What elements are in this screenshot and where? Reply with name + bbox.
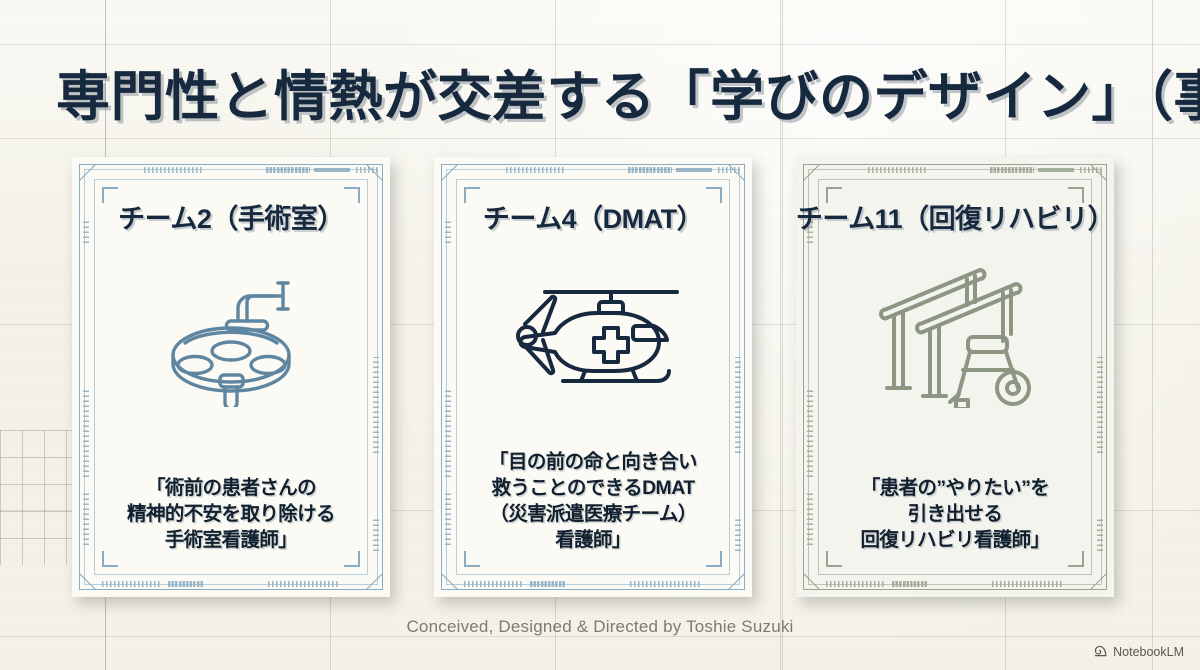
tick-strip-bottom-3 <box>630 581 702 587</box>
notebooklm-watermark: NotebookLM <box>1093 644 1184 659</box>
slide-canvas: 専門性と情熱が交差する「学びのデザイン」（事例2） <box>0 0 1200 670</box>
tick-strip-top-1 <box>868 167 926 173</box>
tick-strip-top-4 <box>1080 167 1102 173</box>
slide-title: 専門性と情熱が交差する「学びのデザイン」（事例2） <box>56 52 1156 131</box>
team-card-dmat[interactable]: チーム4（DMAT） <box>434 157 752 597</box>
tick-strip-right-1 <box>735 357 741 453</box>
card-title: チーム11（回復リハビリ） <box>796 197 1114 236</box>
tick-strip-left-2 <box>83 387 89 477</box>
tick-strip-left-2 <box>445 387 451 477</box>
card-body: チーム11（回復リハビリ） <box>822 191 1088 567</box>
corner-chamfer-top-left <box>79 164 96 181</box>
tick-strip-bottom-3 <box>268 581 340 587</box>
tick-strip-bottom-1 <box>102 581 160 587</box>
corner-chamfer-bottom-left <box>803 573 820 590</box>
tick-strip-bottom-3 <box>992 581 1064 587</box>
corner-chamfer-top-left <box>441 164 458 181</box>
corner-chamfer-bottom-right <box>1090 573 1107 590</box>
card-body: チーム2（手術室） <box>98 191 364 567</box>
tick-strip-bottom-1 <box>826 581 884 587</box>
tick-strip-right-2 <box>373 517 379 551</box>
card-row: チーム2（手術室） <box>72 157 1114 597</box>
tick-strip-top-3 <box>314 168 350 172</box>
card-caption: 「目の前の命と向き合い 救うことのできるDMAT （災害派遣医療チーム） 看護師… <box>489 449 697 554</box>
corner-chamfer-top-left <box>803 164 820 181</box>
notebooklm-spiral-icon <box>1093 644 1108 659</box>
tick-strip-top-4 <box>356 167 378 173</box>
tick-strip-left-1 <box>445 219 451 243</box>
medical-helicopter-icon <box>501 258 686 408</box>
card-body: チーム4（DMAT） <box>460 191 726 567</box>
corner-chamfer-bottom-left <box>79 573 96 590</box>
tick-strip-top-2 <box>266 167 310 173</box>
tick-strip-right-2 <box>1097 517 1103 551</box>
card-title: チーム4（DMAT） <box>483 197 703 236</box>
corner-chamfer-bottom-left <box>441 573 458 590</box>
tick-strip-bottom-2 <box>530 581 566 587</box>
team-card-rehab[interactable]: チーム11（回復リハビリ） <box>796 157 1114 597</box>
tick-strip-bottom-2 <box>168 581 204 587</box>
tick-strip-right-2 <box>735 517 741 551</box>
tick-strip-right-1 <box>1097 357 1103 453</box>
tick-strip-top-3 <box>1038 168 1074 172</box>
card-caption: 「術前の患者さんの 精神的不安を取り除ける 手術室看護師」 <box>127 475 335 553</box>
tick-strip-top-2 <box>628 167 672 173</box>
corner-chamfer-bottom-right <box>728 573 745 590</box>
footer-credit: Conceived, Designed & Directed by Toshie… <box>0 617 1200 637</box>
card-title: チーム2（手術室） <box>118 197 344 236</box>
tick-strip-right-1 <box>373 357 379 453</box>
notebooklm-label: NotebookLM <box>1113 645 1184 659</box>
tick-strip-top-2 <box>990 167 1034 173</box>
tick-strip-left-3 <box>807 493 813 545</box>
tick-strip-top-3 <box>676 168 712 172</box>
corner-chamfer-bottom-right <box>366 573 383 590</box>
tick-strip-left-2 <box>807 387 813 477</box>
team-card-surgery[interactable]: チーム2（手術室） <box>72 157 390 597</box>
tick-strip-left-3 <box>83 493 89 545</box>
grid-hline-top <box>0 44 1200 45</box>
tick-strip-top-1 <box>506 167 564 173</box>
tick-strip-left-1 <box>83 219 89 243</box>
surgical-lamp-icon <box>157 258 305 408</box>
tick-strip-top-1 <box>144 167 202 173</box>
tick-strip-bottom-1 <box>464 581 522 587</box>
card-caption: 「患者の”やりたい”を 引き出せる 回復リハビリ看護師」 <box>860 475 1049 553</box>
tick-strip-bottom-2 <box>892 581 928 587</box>
tick-strip-left-3 <box>445 493 451 545</box>
parallel-bars-walker-icon <box>870 258 1040 408</box>
tick-strip-top-4 <box>718 167 740 173</box>
